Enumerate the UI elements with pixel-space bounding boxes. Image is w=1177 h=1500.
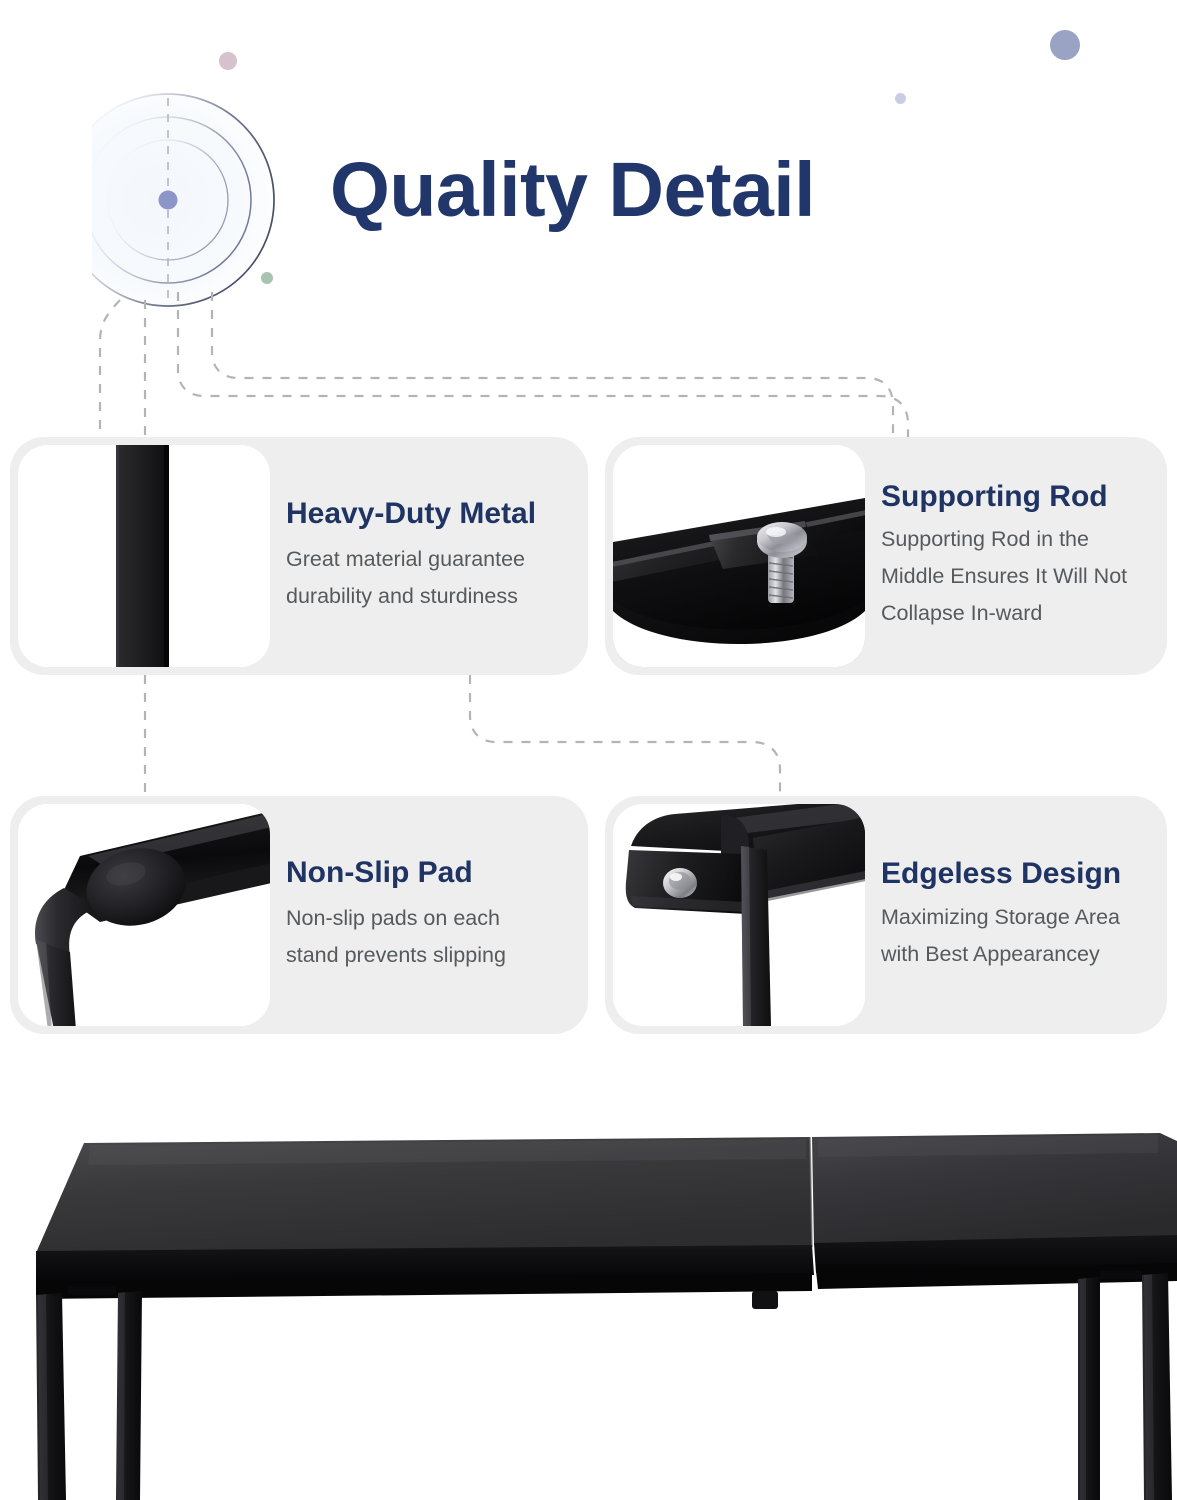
feature-desc-line: Non-slip pads on each [286,900,574,937]
decor-dot-blue-gray [1050,30,1080,60]
decor-dot-lavender-sm [895,93,906,104]
supporting-rod-screw-photo [613,445,865,667]
feature-card-body: Edgeless Design Maximizing Storage Area … [865,796,1167,1034]
feature-desc-line: Great material guarantee [286,541,574,578]
feature-card-supporting-rod[interactable]: Supporting Rod Supporting Rod in the Mid… [605,437,1167,675]
page-title: Quality Detail [330,150,1050,231]
edgeless-design-corner-photo [613,804,865,1026]
heavy-duty-metal-bar-photo [18,445,270,667]
feature-card-edgeless-design[interactable]: Edgeless Design Maximizing Storage Area … [605,796,1167,1034]
feature-desc-line: durability and sturdiness [286,578,574,615]
non-slip-pad-leg-photo [18,804,270,1026]
feature-title: Non-Slip Pad [286,856,574,891]
feature-desc-line: with Best Appearancey [881,936,1153,973]
feature-card-heavy-duty-metal[interactable]: Heavy-Duty Metal Great material guarante… [10,437,588,675]
feature-card-body: Heavy-Duty Metal Great material guarante… [270,437,588,675]
feature-desc-line: stand prevents slipping [286,937,574,974]
feature-desc-line: Middle Ensures It Will Not [881,558,1153,595]
feature-desc-line: Supporting Rod in the [881,521,1153,558]
feature-card-non-slip-pad[interactable]: Non-Slip Pad Non-slip pads on each stand… [10,796,588,1034]
feature-title: Heavy-Duty Metal [286,497,574,532]
radar-target-graphic [92,86,324,318]
feature-title: Edgeless Design [881,857,1153,892]
black-extendable-table-photo [0,1115,1177,1500]
feature-desc-line: Collapse In-ward [881,595,1153,632]
decor-dot-pink [219,52,237,70]
feature-desc-line: Maximizing Storage Area [881,899,1153,936]
feature-title: Supporting Rod [881,480,1153,515]
feature-card-body: Supporting Rod Supporting Rod in the Mid… [865,437,1167,675]
feature-card-body: Non-Slip Pad Non-slip pads on each stand… [270,796,588,1034]
